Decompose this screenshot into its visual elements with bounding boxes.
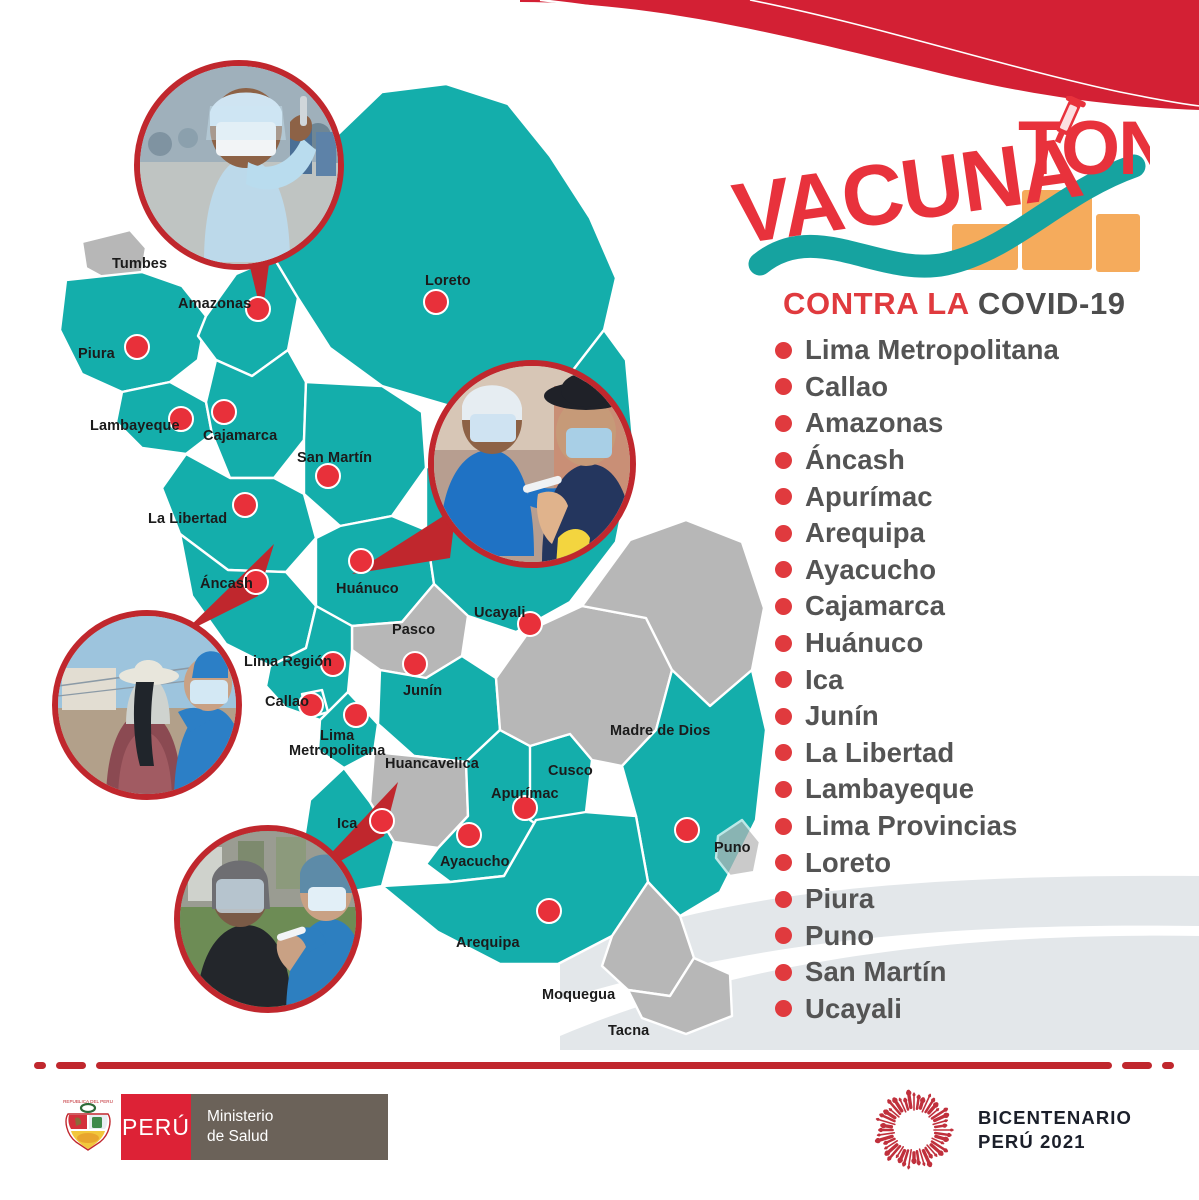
region-list-label: Piura: [805, 883, 874, 915]
map-label: San Martín: [297, 450, 372, 466]
region-list-item[interactable]: Apurímac: [775, 478, 1175, 515]
map-label: Huancavelica: [385, 756, 479, 772]
map-label: Lima Región: [244, 654, 332, 670]
map-label: Ayacucho: [440, 854, 510, 870]
map-marker[interactable]: [674, 817, 700, 843]
region-list-item[interactable]: Áncash: [775, 442, 1175, 479]
bicentenario-logo: BICENTENARIO PERÚ 2021: [872, 1088, 1132, 1172]
map-label: Junín: [403, 683, 442, 699]
minsa-logo: REPUBLICA DEL PERU PERÚ Ministerio de Sa…: [62, 1094, 388, 1160]
peru-region-map[interactable]: TumbesAmazonasLoretoPiuraLambayequeCajam…: [30, 30, 790, 1040]
map-marker[interactable]: [124, 334, 150, 360]
region-list-item[interactable]: Arequipa: [775, 515, 1175, 552]
map-marker[interactable]: [211, 399, 237, 425]
map-marker[interactable]: [402, 651, 428, 677]
footer-divider: [0, 1058, 1199, 1072]
photo-vaccination-amazonas[interactable]: [134, 60, 344, 270]
region-list-item[interactable]: La Libertad: [775, 735, 1175, 772]
region-bullet-icon: [775, 635, 792, 652]
map-marker[interactable]: [315, 463, 341, 489]
map-label: Loreto: [425, 273, 471, 289]
region-list-item[interactable]: Callao: [775, 369, 1175, 406]
region-list-label: Huánuco: [805, 627, 923, 659]
region-bullet-icon: [775, 342, 792, 359]
region-bullet-icon: [775, 561, 792, 578]
region-bullet-icon: [775, 452, 792, 469]
vacunaton-logo: VACUNA TON: [730, 96, 1150, 311]
region-bullet-icon: [775, 598, 792, 615]
region-bullet-icon: [775, 1000, 792, 1017]
region-list-label: Lima Provincias: [805, 810, 1017, 842]
region-list-label: Amazonas: [805, 407, 943, 439]
region-list-label: Puno: [805, 920, 874, 952]
map-marker[interactable]: [536, 898, 562, 924]
map-label: Áncash: [200, 576, 253, 592]
subtitle-covid-19: COVID-19: [978, 286, 1126, 321]
region-list-label: La Libertad: [805, 737, 954, 769]
svg-text:TON: TON: [1018, 106, 1150, 191]
region-list-item[interactable]: San Martín: [775, 954, 1175, 991]
region-list-item[interactable]: Amazonas: [775, 405, 1175, 442]
ministry-line-1: Ministerio: [207, 1107, 388, 1127]
ministry-line-2: de Salud: [207, 1127, 388, 1147]
minsa-ministry-label: Ministerio de Salud: [191, 1094, 388, 1160]
region-list-label: Callao: [805, 371, 888, 403]
region-list-item[interactable]: Huánuco: [775, 625, 1175, 662]
map-label: Madre de Dios: [610, 723, 710, 739]
map-label: Moquegua: [542, 987, 615, 1003]
region-list-item[interactable]: Ayacucho: [775, 552, 1175, 589]
map-label: Huánuco: [336, 581, 399, 597]
region-list-item[interactable]: Lima Provincias: [775, 808, 1175, 845]
map-label: Arequipa: [456, 935, 520, 951]
photo-image-huanuco: [434, 366, 636, 568]
region-bullet-icon: [775, 525, 792, 542]
right-panel: VACUNA TON CONTRA LA COVID-19 Lima Metro…: [720, 96, 1180, 1046]
region-list-label: Lima Metropolitana: [805, 334, 1059, 366]
region-bullet-icon: [775, 378, 792, 395]
photo-vaccination-huanuco[interactable]: [428, 360, 636, 568]
bicentenario-line-1: BICENTENARIO: [978, 1106, 1132, 1130]
photo-image-ancash: [58, 616, 242, 800]
region-bullet-icon: [775, 671, 792, 688]
map-label: Cusco: [548, 763, 593, 779]
map-label: Amazonas: [178, 296, 251, 312]
map-marker[interactable]: [343, 702, 369, 728]
vaccinated-regions-list[interactable]: Lima MetropolitanaCallaoAmazonasÁncashAp…: [775, 332, 1175, 1027]
region-bullet-icon: [775, 891, 792, 908]
region-bullet-icon: [775, 415, 792, 432]
region-list-label: Ica: [805, 664, 844, 696]
map-label: Tacna: [608, 1023, 649, 1039]
region-list-label: Loreto: [805, 847, 891, 879]
region-list-item[interactable]: Loreto: [775, 844, 1175, 881]
region-list-item[interactable]: Lambayeque: [775, 771, 1175, 808]
region-list-label: Arequipa: [805, 517, 925, 549]
map-marker[interactable]: [456, 822, 482, 848]
logo-subtitle: CONTRA LA COVID-19: [783, 286, 1126, 322]
map-marker[interactable]: [369, 808, 395, 834]
region-bullet-icon: [775, 818, 792, 835]
region-bullet-icon: [775, 964, 792, 981]
map-label: Apurímac: [491, 786, 559, 802]
region-list-label: Junín: [805, 700, 879, 732]
map-label: La Libertad: [148, 511, 227, 527]
region-list-item[interactable]: Ucayali: [775, 991, 1175, 1028]
region-list-label: San Martín: [805, 956, 947, 988]
region-list-item[interactable]: Piura: [775, 881, 1175, 918]
region-list-label: Ucayali: [805, 993, 902, 1025]
region-list-label: Cajamarca: [805, 590, 945, 622]
map-label: LimaMetropolitana: [289, 729, 385, 759]
map-label: Cajamarca: [203, 428, 277, 444]
map-label: Callao: [265, 694, 309, 710]
region-list-label: Ayacucho: [805, 554, 936, 586]
infographic-canvas: TumbesAmazonasLoretoPiuraLambayequeCajam…: [0, 0, 1199, 1200]
map-marker[interactable]: [232, 492, 258, 518]
footer: REPUBLICA DEL PERU PERÚ Ministerio de Sa…: [0, 1072, 1199, 1200]
photo-image-ica: [180, 831, 362, 1013]
photo-vaccination-ancash[interactable]: [52, 610, 242, 800]
region-bullet-icon: [775, 744, 792, 761]
peru-coat-of-arms-icon: REPUBLICA DEL PERU: [62, 1094, 114, 1160]
region-bullet-icon: [775, 488, 792, 505]
minsa-peru-label: PERÚ: [121, 1094, 191, 1160]
region-list-item[interactable]: Ica: [775, 661, 1175, 698]
region-list-label: Lambayeque: [805, 773, 974, 805]
region-bullet-icon: [775, 708, 792, 725]
region-bullet-icon: [775, 781, 792, 798]
bicentenario-burst-icon: [872, 1088, 956, 1172]
map-marker[interactable]: [423, 289, 449, 315]
bicentenario-text: BICENTENARIO PERÚ 2021: [978, 1106, 1132, 1154]
map-label: Ica: [337, 816, 357, 832]
region-list-label: Apurímac: [805, 481, 933, 513]
map-label: Piura: [78, 346, 115, 362]
map-label: Ucayali: [474, 605, 526, 621]
map-label: Pasco: [392, 622, 435, 638]
photo-image-amazonas: [140, 66, 344, 270]
region-list-item[interactable]: Puno: [775, 918, 1175, 955]
region-bullet-icon: [775, 854, 792, 871]
region-list-label: Áncash: [805, 444, 905, 476]
region-bullet-icon: [775, 927, 792, 944]
map-label: Lambayeque: [90, 418, 180, 434]
region-list-item[interactable]: Junín: [775, 698, 1175, 735]
photo-vaccination-ica[interactable]: [174, 825, 362, 1013]
region-list-item[interactable]: Cajamarca: [775, 588, 1175, 625]
subtitle-contra-la: CONTRA LA: [783, 286, 969, 321]
region-list-item[interactable]: Lima Metropolitana: [775, 332, 1175, 369]
map-marker[interactable]: [348, 548, 374, 574]
bicentenario-line-2: PERÚ 2021: [978, 1130, 1132, 1154]
